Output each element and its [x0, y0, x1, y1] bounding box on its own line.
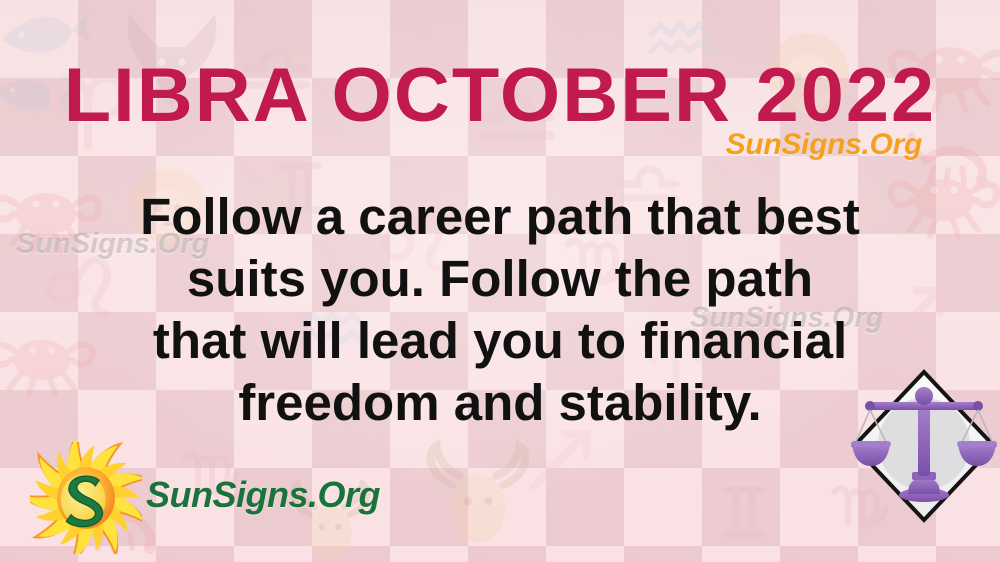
- zodiac-sign-badge[interactable]: [848, 366, 1000, 526]
- horoscope-card: LIBRA OCTOBER 2022 SunSigns.Org SunSigns…: [0, 0, 1000, 562]
- horoscope-line-4: freedom and stability.: [50, 372, 950, 434]
- header-brand-label: SunSigns.Org: [726, 128, 922, 162]
- site-logo-wordmark: SunSigns.Org: [146, 474, 380, 516]
- horoscope-line-1: Follow a career path that best: [50, 186, 950, 248]
- libra-scales-icon: [848, 366, 1000, 526]
- site-logo[interactable]: SunSigns.Org: [30, 442, 380, 554]
- horoscope-line-2: suits you. Follow the path: [50, 248, 950, 310]
- sun-logo-icon: [30, 442, 142, 554]
- page-title: LIBRA OCTOBER 2022: [0, 58, 1000, 134]
- horoscope-text: Follow a career path that best suits you…: [50, 186, 950, 434]
- horoscope-line-3: that will lead you to financial: [50, 310, 950, 372]
